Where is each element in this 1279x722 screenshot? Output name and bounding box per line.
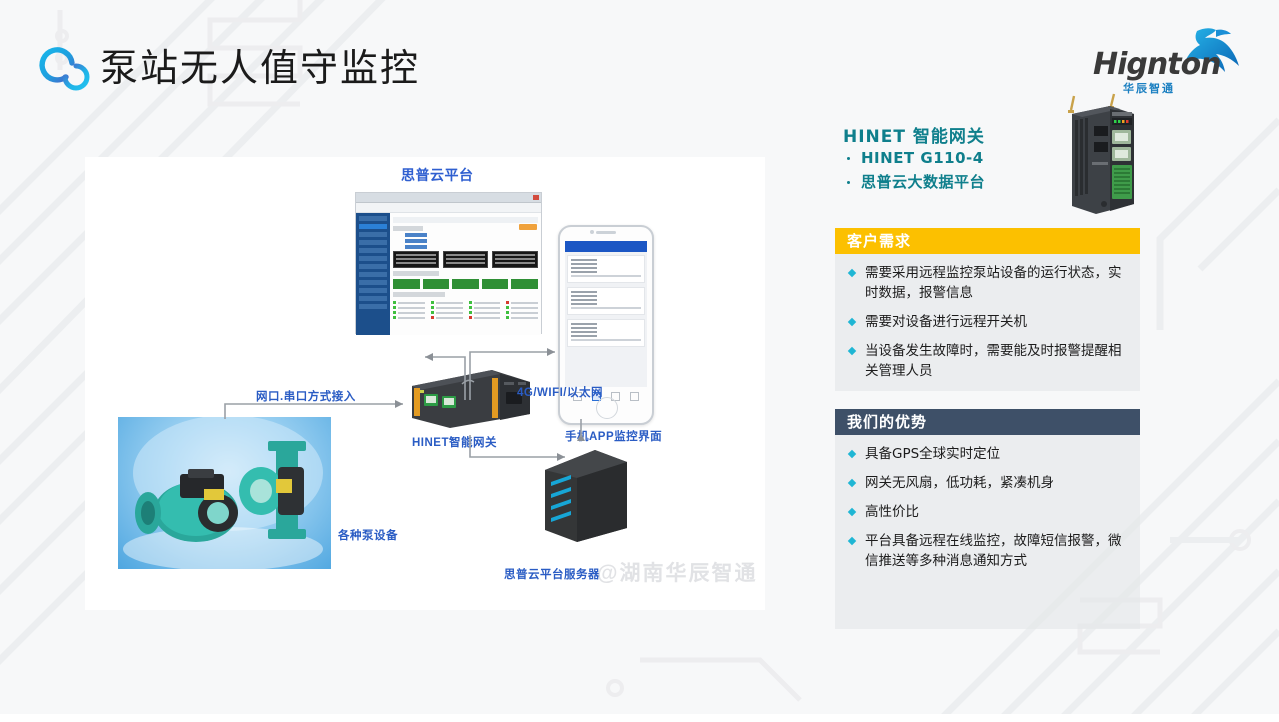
list-item: 需要对设备进行远程开关机 <box>839 312 1130 332</box>
list-item: 高性价比 <box>839 502 1130 522</box>
our-advantages-body: 具备GPS全球实时定位 网关无风扇，低功耗，紧凑机身 高性价比 平台具备远程在线… <box>835 435 1140 585</box>
architecture-diagram-panel: 思普云平台 <box>85 157 765 610</box>
gateway-spec-list: HINET G110-4 思普云大数据平台 <box>843 146 985 194</box>
diagram-connectors <box>85 157 765 610</box>
gateway-section-title: HINET 智能网关 <box>843 122 985 147</box>
customer-needs-panel: 客户需求 需要采用远程监控泵站设备的运行状态，实时数据，报警信息 需要对设备进行… <box>835 228 1140 391</box>
list-item: 当设备发生故障时，需要能及时报警提醒相关管理人员 <box>839 341 1130 381</box>
footer-band <box>0 714 1279 722</box>
right-info-column: HINET 智能网关 HINET G110-4 思普云大数据平台 <box>835 110 1140 629</box>
list-item: 平台具备远程在线监控，故障短信报警，微信推送等多种消息通知方式 <box>839 531 1130 571</box>
hinet-g110-4-gateway-photo <box>1064 92 1140 220</box>
list-item: 网关无风扇，低功耗，紧凑机身 <box>839 473 1130 493</box>
our-advantages-panel: 我们的优势 具备GPS全球实时定位 网关无风扇，低功耗，紧凑机身 高性价比 平台… <box>835 409 1140 585</box>
our-advantages-title: 我们的优势 <box>835 409 1140 435</box>
list-item: 具备GPS全球实时定位 <box>839 444 1130 464</box>
customer-needs-title: 客户需求 <box>835 228 1140 254</box>
customer-needs-body: 需要采用远程监控泵站设备的运行状态，实时数据，报警信息 需要对设备进行远程开关机… <box>835 254 1140 391</box>
company-logo: Hignton 华辰智通 <box>1093 26 1243 98</box>
gateway-spec-item: 思普云大数据平台 <box>843 170 985 194</box>
company-wordmark: Hignton <box>1093 47 1221 82</box>
gateway-spec-block: HINET 智能网关 HINET G110-4 思普云大数据平台 <box>835 110 1140 228</box>
right-column-tail <box>835 585 1140 629</box>
dual-ring-logo <box>36 41 94 99</box>
page-title: 泵站无人值守监控 <box>100 40 420 96</box>
gateway-spec-item: HINET G110-4 <box>843 146 985 170</box>
list-item: 需要采用远程监控泵站设备的运行状态，实时数据，报警信息 <box>839 263 1130 303</box>
